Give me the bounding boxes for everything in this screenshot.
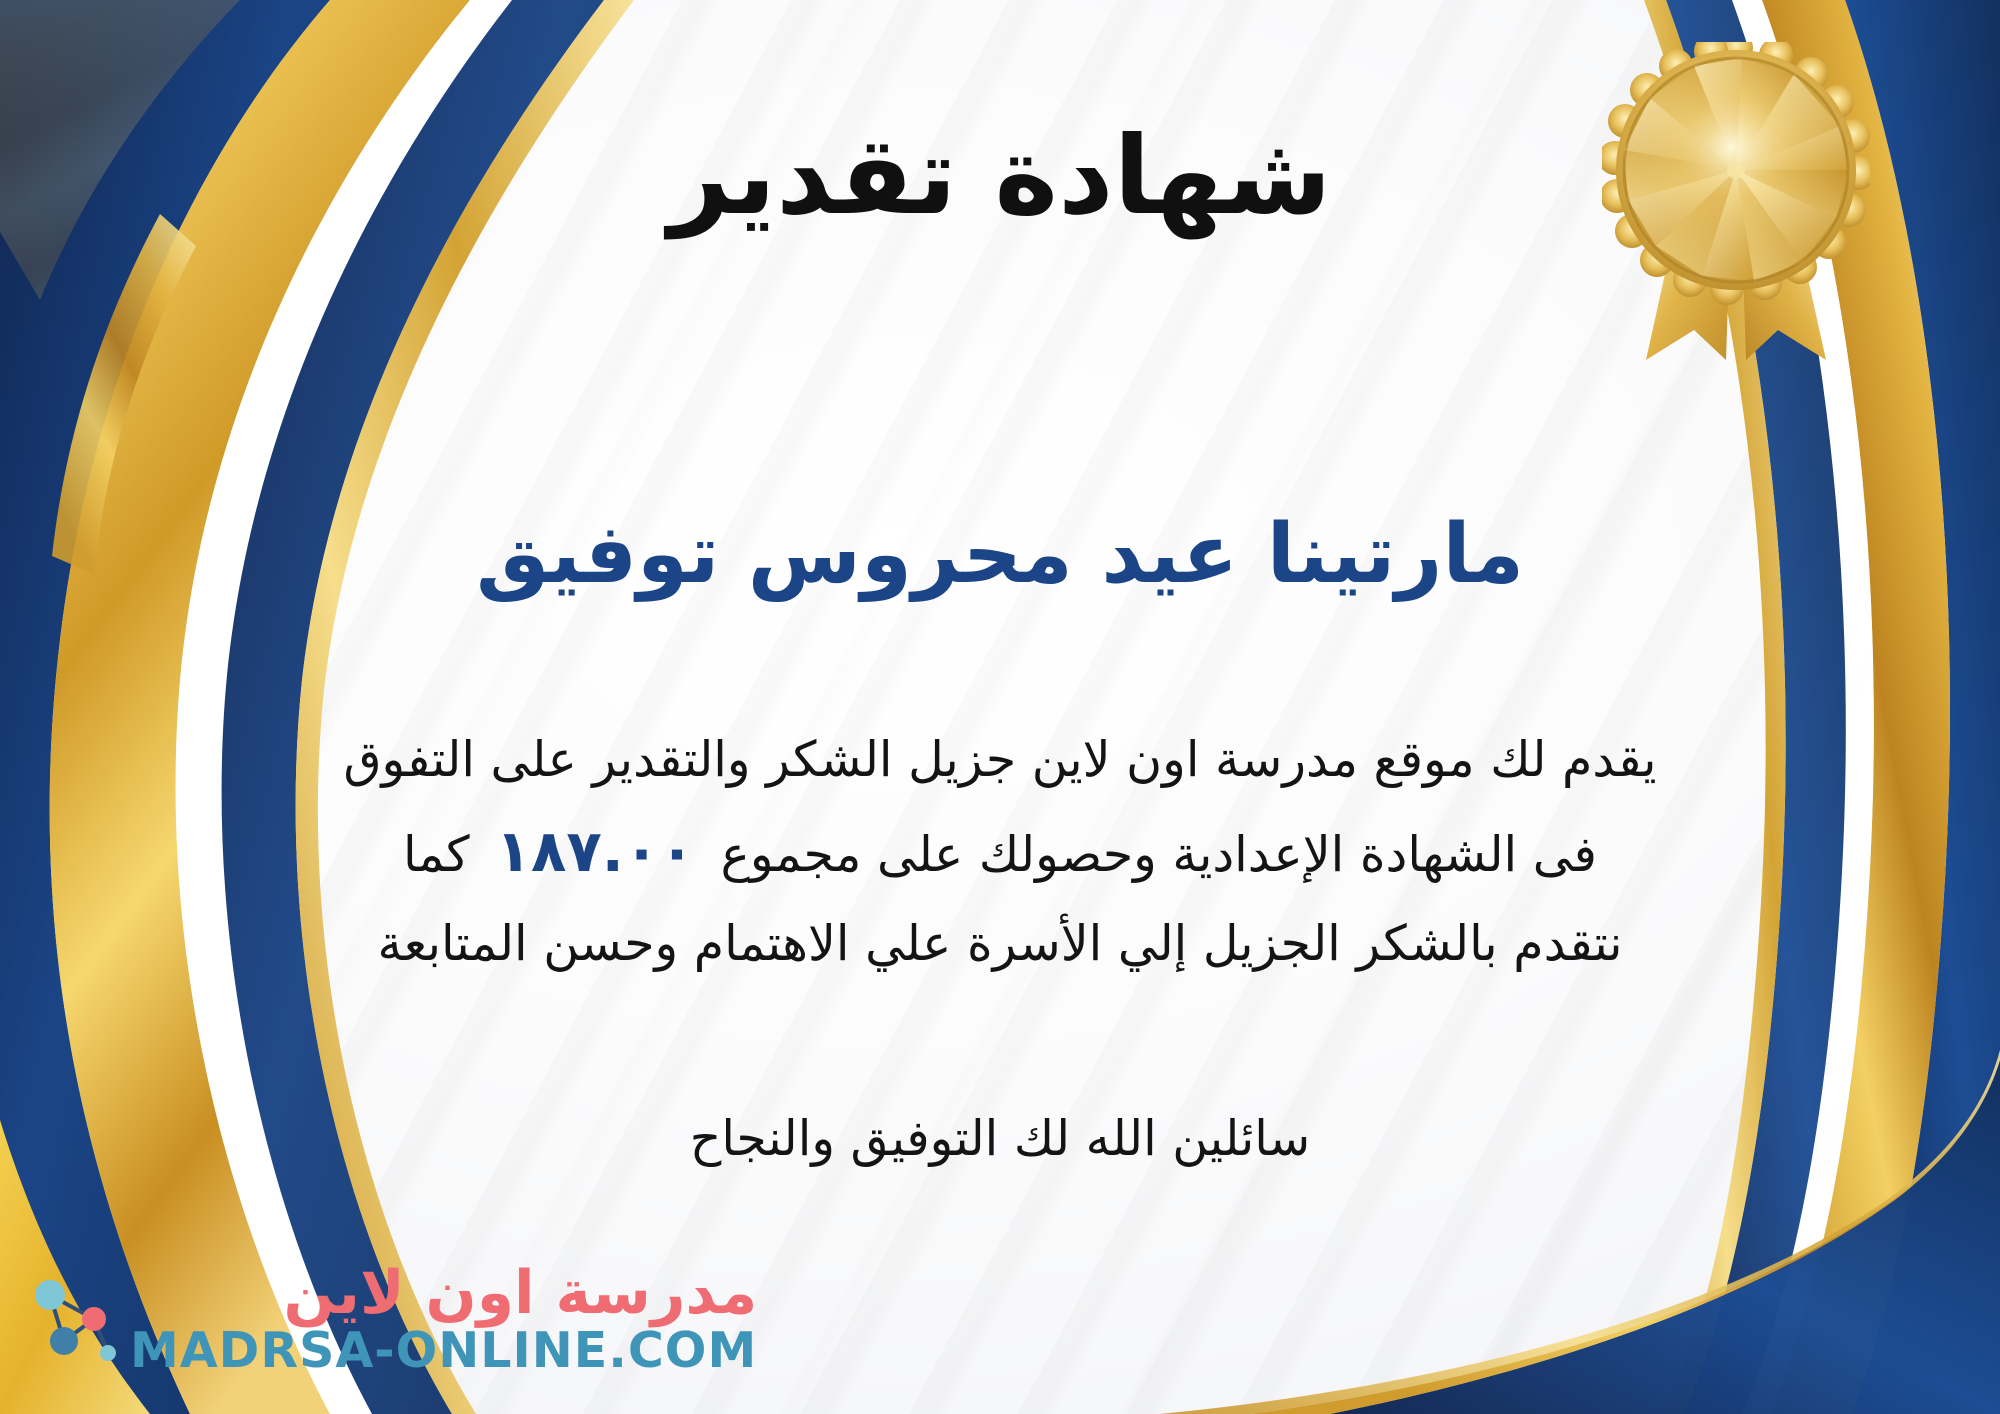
network-nodes-icon (28, 1267, 120, 1371)
certificate-content: شهادة تقدير مارتينا عيد محروس توفيق يقدم… (0, 0, 2000, 1414)
recipient-name: مارتينا عيد محروس توفيق (0, 508, 2000, 602)
body-line-1: يقدم لك موقع مدرسة اون لاين جزيل الشكر و… (40, 718, 1960, 802)
certificate-canvas: شهادة تقدير مارتينا عيد محروس توفيق يقدم… (0, 0, 2000, 1414)
certificate-body: يقدم لك موقع مدرسة اون لاين جزيل الشكر و… (40, 718, 1960, 986)
closing-statement: سائلين الله لك التوفيق والنجاح (40, 1100, 1960, 1178)
brand-website-url: MADRSA-ONLINE.COM (130, 1325, 757, 1376)
body-line-3: نتقدم بالشكر الجزيل إلي الأسرة علي الاهت… (40, 902, 1960, 986)
brand-name-arabic: مدرسة اون لاين (283, 1262, 757, 1325)
body-line-2-text: فى الشهادة الإعدادية وحصولك على مجموع (721, 826, 1597, 883)
certificate-title: شهادة تقدير (0, 118, 2000, 237)
brand-text-group: مدرسة اون لاين MADRSA-ONLINE.COM (130, 1262, 757, 1376)
score-value: ١٨٧.٠٠ (470, 817, 721, 885)
body-line-2-suffix: كما (403, 826, 470, 883)
body-line-2: فى الشهادة الإعدادية وحصولك على مجموع١٨٧… (40, 802, 1960, 902)
brand-logo: مدرسة اون لاين MADRSA-ONLINE.COM (28, 1262, 757, 1376)
